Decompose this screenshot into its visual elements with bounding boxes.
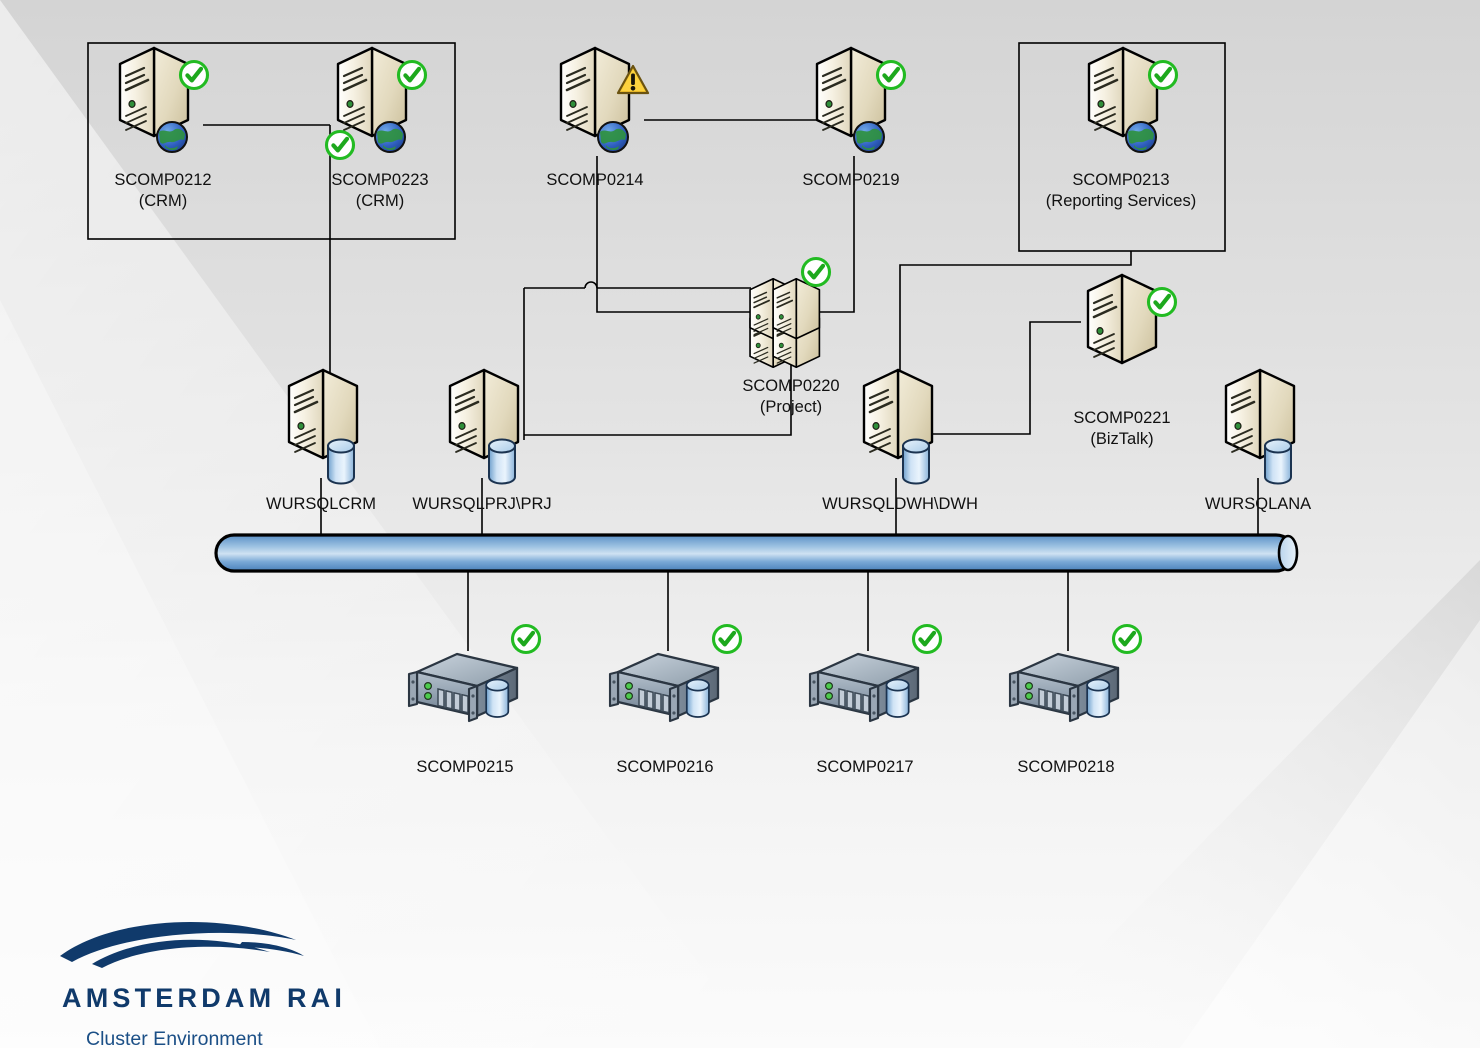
rai-swoosh-icon xyxy=(56,920,316,982)
diagram-canvas: SCOMP0212 (CRM) SCOMP0223 (CRM) SCOMP021… xyxy=(0,0,1480,1048)
database-icon xyxy=(328,440,354,484)
database-icon xyxy=(903,440,929,484)
node-scomp0217[interactable] xyxy=(810,626,941,722)
status-ok-icon xyxy=(1150,62,1177,89)
node-scomp0216[interactable] xyxy=(610,626,741,722)
status-ok-icon xyxy=(803,259,830,286)
status-ok-icon xyxy=(399,62,426,89)
database-icon xyxy=(1087,680,1109,717)
node-scomp0223[interactable] xyxy=(327,48,426,159)
node-scomp0213[interactable] xyxy=(1089,48,1177,152)
status-ok-icon xyxy=(714,626,741,653)
status-ok-icon xyxy=(914,626,941,653)
status-ok-icon xyxy=(181,62,208,89)
node-layer xyxy=(0,0,1480,1048)
database-icon xyxy=(887,680,909,717)
brand-wordmark: AMSTERDAM RAI xyxy=(56,983,376,1014)
database-icon xyxy=(486,680,508,717)
status-ok-icon xyxy=(878,62,905,89)
node-scomp0212[interactable] xyxy=(120,48,208,152)
node-scomp0220[interactable] xyxy=(750,259,829,368)
node-scomp0214[interactable] xyxy=(561,48,648,152)
database-icon xyxy=(687,680,709,717)
status-ok-icon xyxy=(513,626,540,653)
node-wursqlana[interactable] xyxy=(1226,370,1294,484)
database-icon xyxy=(489,440,515,484)
status-ok-icon xyxy=(1149,289,1176,316)
diagram-title: Cluster Environment xyxy=(56,1028,376,1048)
node-wursqlprj[interactable] xyxy=(450,370,518,484)
node-scomp0219[interactable] xyxy=(817,48,905,152)
status-ok-icon xyxy=(1114,626,1141,653)
brand-logo: AMSTERDAM RAI Cluster Environment xyxy=(56,920,376,1048)
node-scomp0221[interactable] xyxy=(1088,275,1176,363)
status-ok-icon-secondary xyxy=(327,132,354,159)
node-scomp0218[interactable] xyxy=(1010,626,1141,722)
node-scomp0215[interactable] xyxy=(409,626,540,722)
node-wursqldwh[interactable] xyxy=(864,370,932,484)
database-icon xyxy=(1265,440,1291,484)
node-wursqlcrm[interactable] xyxy=(289,370,357,484)
